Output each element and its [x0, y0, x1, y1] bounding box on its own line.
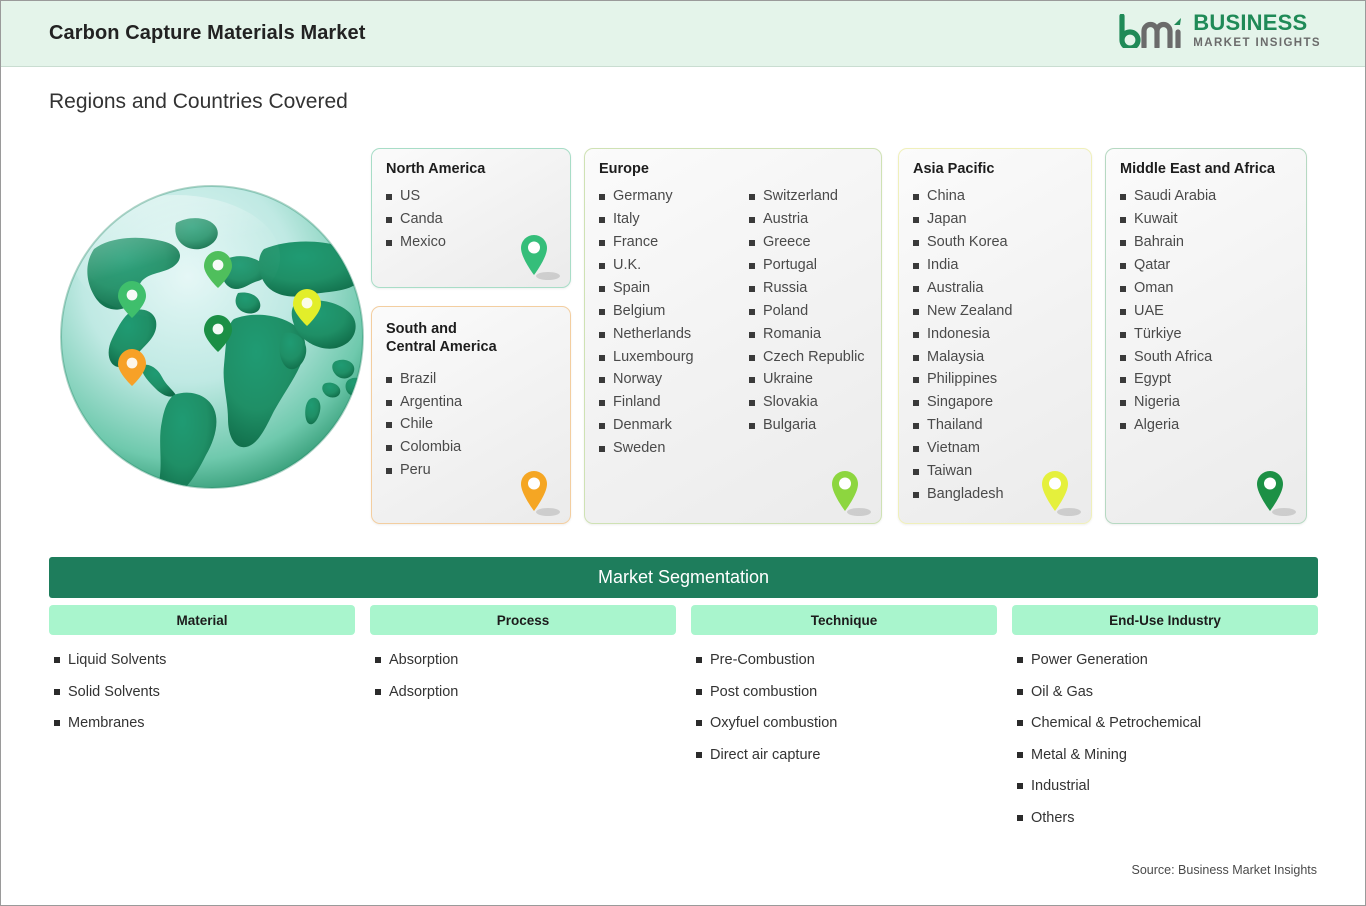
- country-item: Saudi Arabia: [1120, 185, 1292, 208]
- segment-list-end-use-industry: Power Generation Oil & Gas Chemical & Pe…: [1017, 653, 1317, 842]
- bullet-icon: [599, 355, 605, 361]
- country-label: Bulgaria: [763, 418, 816, 433]
- map-pin-middle-east-africa-icon: [1254, 467, 1296, 519]
- country-label: Russia: [763, 281, 807, 296]
- country-item: Brazil: [386, 368, 556, 391]
- bullet-icon: [913, 377, 919, 383]
- bullet-icon: [749, 332, 755, 338]
- country-item: Japan: [913, 208, 1077, 231]
- country-label: Finland: [613, 395, 661, 410]
- country-label: New Zealand: [927, 304, 1012, 319]
- infographic-page: Carbon Capture Materials Market BUSINESS…: [0, 0, 1366, 906]
- country-label: Kuwait: [1134, 212, 1178, 227]
- bullet-icon: [749, 263, 755, 269]
- bullet-icon: [913, 309, 919, 315]
- country-item: Colombia: [386, 436, 556, 459]
- bullet-icon: [54, 689, 60, 695]
- bullet-icon: [1120, 286, 1126, 292]
- bullet-icon: [1017, 815, 1023, 821]
- country-label: Vietnam: [927, 441, 980, 456]
- page-title: Carbon Capture Materials Market: [49, 22, 366, 45]
- region-title-north-america: North America: [386, 160, 556, 178]
- country-label: Portugal: [763, 258, 817, 273]
- bullet-icon: [375, 689, 381, 695]
- bullet-icon: [749, 377, 755, 383]
- country-item: Nigeria: [1120, 391, 1292, 414]
- segment-item-label: Membranes: [68, 716, 145, 731]
- country-label: South Africa: [1134, 350, 1212, 365]
- bullet-icon: [599, 217, 605, 223]
- map-pin-europe-icon: [829, 467, 871, 519]
- segment-item: Post combustion: [696, 685, 996, 717]
- segment-item: Liquid Solvents: [54, 653, 354, 685]
- segment-item: Others: [1017, 811, 1317, 843]
- bullet-icon: [386, 240, 392, 246]
- segment-item-label: Industrial: [1031, 779, 1090, 794]
- country-item: Sweden: [599, 437, 749, 460]
- country-item: New Zealand: [913, 300, 1077, 323]
- country-item: Spain: [599, 277, 749, 300]
- country-item: Bahrain: [1120, 231, 1292, 254]
- country-label: Chile: [400, 417, 433, 432]
- region-title-europe: Europe: [599, 160, 867, 178]
- country-label: Ukraine: [763, 372, 813, 387]
- bullet-icon: [696, 657, 702, 663]
- bullet-icon: [913, 332, 919, 338]
- country-label: Netherlands: [613, 327, 691, 342]
- country-item: Switzerland: [749, 185, 867, 208]
- country-label: Canda: [400, 212, 443, 227]
- country-label: Switzerland: [763, 189, 838, 204]
- segment-item: Oil & Gas: [1017, 685, 1317, 717]
- segment-header-label: Process: [497, 613, 550, 628]
- segment-item-label: Absorption: [389, 653, 458, 668]
- bullet-icon: [749, 309, 755, 315]
- bullet-icon: [599, 446, 605, 452]
- bullet-icon: [599, 377, 605, 383]
- country-label: Singapore: [927, 395, 993, 410]
- country-item: Singapore: [913, 391, 1077, 414]
- country-label: US: [400, 189, 420, 204]
- segment-item-label: Power Generation: [1031, 653, 1148, 668]
- country-label: Spain: [613, 281, 650, 296]
- map-pin-north-america-icon: [518, 231, 560, 283]
- region-title-south-central-america: South and Central America: [386, 320, 556, 357]
- country-item: Romania: [749, 323, 867, 346]
- country-label: Saudi Arabia: [1134, 189, 1216, 204]
- bullet-icon: [386, 194, 392, 200]
- country-item: Canda: [386, 208, 556, 231]
- country-label: France: [613, 235, 658, 250]
- bullet-icon: [386, 422, 392, 428]
- country-item: Portugal: [749, 254, 867, 277]
- bullet-icon: [54, 720, 60, 726]
- segment-header-end-use-industry: End-Use Industry: [1012, 605, 1318, 635]
- bullet-icon: [386, 400, 392, 406]
- country-item: US: [386, 185, 556, 208]
- bullet-icon: [913, 446, 919, 452]
- bullet-icon: [913, 492, 919, 498]
- country-item: Chile: [386, 413, 556, 436]
- country-item: Austria: [749, 208, 867, 231]
- bullet-icon: [913, 217, 919, 223]
- brand-tagline: MARKET INSIGHTS: [1193, 38, 1321, 50]
- bullet-icon: [913, 240, 919, 246]
- country-item: South Africa: [1120, 345, 1292, 368]
- bullet-icon: [599, 400, 605, 406]
- segment-header-technique: Technique: [691, 605, 997, 635]
- bullet-icon: [599, 423, 605, 429]
- country-label: Nigeria: [1134, 395, 1180, 410]
- map-pin-south-central-america-icon: [518, 467, 560, 519]
- country-label: Japan: [927, 212, 967, 227]
- country-item: Finland: [599, 391, 749, 414]
- country-item: Bulgaria: [749, 414, 867, 437]
- country-item: Netherlands: [599, 323, 749, 346]
- bullet-icon: [913, 423, 919, 429]
- segment-item: Oxyfuel combustion: [696, 716, 996, 748]
- segment-item-label: Others: [1031, 811, 1075, 826]
- country-list-middle-east-africa: Saudi Arabia Kuwait Bahrain Qatar Oman U…: [1120, 185, 1292, 437]
- bullet-icon: [386, 445, 392, 451]
- country-label: Poland: [763, 304, 808, 319]
- segment-item: Power Generation: [1017, 653, 1317, 685]
- bullet-icon: [1120, 423, 1126, 429]
- bullet-icon: [913, 400, 919, 406]
- bullet-icon: [696, 752, 702, 758]
- country-label: Indonesia: [927, 327, 990, 342]
- bullet-icon: [1017, 720, 1023, 726]
- country-label: Thailand: [927, 418, 983, 433]
- bullet-icon: [1120, 309, 1126, 315]
- bullet-icon: [599, 309, 605, 315]
- country-item: Italy: [599, 208, 749, 231]
- brand-wordmark: BUSINESS MARKET INSIGHTS: [1193, 12, 1321, 50]
- country-item: Kuwait: [1120, 208, 1292, 231]
- segment-item: Pre-Combustion: [696, 653, 996, 685]
- country-label: Türkiye: [1134, 327, 1182, 342]
- segment-item-label: Oxyfuel combustion: [710, 716, 837, 731]
- country-label: Brazil: [400, 372, 436, 387]
- country-label: Taiwan: [927, 464, 972, 479]
- country-item: Luxembourg: [599, 345, 749, 368]
- globe-illustration: [58, 183, 366, 491]
- country-item: Oman: [1120, 277, 1292, 300]
- bullet-icon: [1017, 689, 1023, 695]
- segment-item-label: Adsorption: [389, 685, 458, 700]
- bullet-icon: [696, 720, 702, 726]
- country-item: Qatar: [1120, 254, 1292, 277]
- country-item: Denmark: [599, 414, 749, 437]
- country-label: Australia: [927, 281, 983, 296]
- bullet-icon: [1120, 240, 1126, 246]
- bullet-icon: [1017, 783, 1023, 789]
- bullet-icon: [913, 355, 919, 361]
- segment-item: Membranes: [54, 716, 354, 748]
- segment-header-label: End-Use Industry: [1109, 613, 1221, 628]
- bullet-icon: [375, 657, 381, 663]
- segment-item-label: Direct air capture: [710, 748, 820, 763]
- bullet-icon: [749, 286, 755, 292]
- country-item: Slovakia: [749, 391, 867, 414]
- segment-item-label: Oil & Gas: [1031, 685, 1093, 700]
- country-label: Philippines: [927, 372, 997, 387]
- country-label: Oman: [1134, 281, 1174, 296]
- region-card-middle-east-africa[interactable]: Middle East and Africa Saudi Arabia Kuwa…: [1105, 148, 1307, 524]
- country-item: Malaysia: [913, 345, 1077, 368]
- country-item: U.K.: [599, 254, 749, 277]
- brand-name: BUSINESS: [1193, 12, 1321, 34]
- country-item: Algeria: [1120, 414, 1292, 437]
- country-label: Belgium: [613, 304, 665, 319]
- country-label: Greece: [763, 235, 811, 250]
- region-title-middle-east-africa: Middle East and Africa: [1120, 160, 1292, 178]
- country-label: Bahrain: [1134, 235, 1184, 250]
- country-item: Australia: [913, 277, 1077, 300]
- bullet-icon: [1017, 752, 1023, 758]
- bullet-icon: [1017, 657, 1023, 663]
- region-card-north-america[interactable]: North America US Canda Mexico: [371, 148, 571, 288]
- bullet-icon: [749, 400, 755, 406]
- market-segmentation-label: Market Segmentation: [598, 567, 769, 588]
- bullet-icon: [749, 355, 755, 361]
- bmi-logo-icon: [1118, 14, 1184, 48]
- region-card-europe[interactable]: Europe Germany Italy France U.K. Spain B…: [584, 148, 882, 524]
- country-label: China: [927, 189, 965, 204]
- segment-item: Absorption: [375, 653, 675, 685]
- country-label: U.K.: [613, 258, 641, 273]
- bullet-icon: [386, 377, 392, 383]
- country-item: Vietnam: [913, 437, 1077, 460]
- country-label: Argentina: [400, 395, 462, 410]
- country-label: Austria: [763, 212, 808, 227]
- bullet-icon: [913, 469, 919, 475]
- segment-item: Chemical & Petrochemical: [1017, 716, 1317, 748]
- bullet-icon: [696, 689, 702, 695]
- bullet-icon: [913, 194, 919, 200]
- bullet-icon: [599, 240, 605, 246]
- country-item: Egypt: [1120, 368, 1292, 391]
- segment-list-process: Absorption Adsorption: [375, 653, 675, 716]
- country-list-south-central-america: Brazil Argentina Chile Colombia Peru: [386, 368, 556, 482]
- country-list-asia-pacific: China Japan South Korea India Australia …: [913, 185, 1077, 505]
- bullet-icon: [386, 217, 392, 223]
- country-item: Philippines: [913, 368, 1077, 391]
- bullet-icon: [749, 423, 755, 429]
- bullet-icon: [1120, 217, 1126, 223]
- bullet-icon: [913, 286, 919, 292]
- section-heading: Regions and Countries Covered: [49, 90, 348, 114]
- country-label: Luxembourg: [613, 350, 694, 365]
- region-card-south-central-america[interactable]: South and Central America Brazil Argenti…: [371, 306, 571, 524]
- country-item: Türkiye: [1120, 323, 1292, 346]
- segment-header-process: Process: [370, 605, 676, 635]
- bullet-icon: [386, 468, 392, 474]
- country-item: Thailand: [913, 414, 1077, 437]
- country-item: China: [913, 185, 1077, 208]
- segment-header-material: Material: [49, 605, 355, 635]
- country-item: UAE: [1120, 300, 1292, 323]
- country-item: South Korea: [913, 231, 1077, 254]
- country-label: India: [927, 258, 958, 273]
- segment-header-label: Technique: [811, 613, 878, 628]
- bullet-icon: [54, 657, 60, 663]
- brand-logo: BUSINESS MARKET INSIGHTS: [1118, 12, 1321, 50]
- country-item: Poland: [749, 300, 867, 323]
- segment-list-technique: Pre-Combustion Post combustion Oxyfuel c…: [696, 653, 996, 779]
- country-label: Sweden: [613, 441, 665, 456]
- segment-item-label: Chemical & Petrochemical: [1031, 716, 1201, 731]
- globe-icon: [58, 183, 366, 491]
- country-label: Egypt: [1134, 372, 1171, 387]
- country-item: Argentina: [386, 390, 556, 413]
- country-label: UAE: [1134, 304, 1164, 319]
- country-item: India: [913, 254, 1077, 277]
- segment-item: Solid Solvents: [54, 685, 354, 717]
- bullet-icon: [1120, 332, 1126, 338]
- country-item: Germany: [599, 185, 749, 208]
- bullet-icon: [1120, 377, 1126, 383]
- segment-header-label: Material: [176, 613, 227, 628]
- segment-item: Metal & Mining: [1017, 748, 1317, 780]
- country-item: France: [599, 231, 749, 254]
- segment-item-label: Liquid Solvents: [68, 653, 166, 668]
- country-label: South Korea: [927, 235, 1008, 250]
- bullet-icon: [749, 240, 755, 246]
- market-segmentation-banner: Market Segmentation: [49, 557, 1318, 598]
- bullet-icon: [1120, 400, 1126, 406]
- page-header: Carbon Capture Materials Market BUSINESS…: [1, 1, 1365, 67]
- country-label: Qatar: [1134, 258, 1170, 273]
- country-label: Italy: [613, 212, 640, 227]
- country-item: Ukraine: [749, 368, 867, 391]
- bullet-icon: [1120, 263, 1126, 269]
- segment-item-label: Metal & Mining: [1031, 748, 1127, 763]
- country-label: Romania: [763, 327, 821, 342]
- country-list-europe-col2: Switzerland Austria Greece Portugal Russ…: [749, 185, 867, 460]
- country-item: Russia: [749, 277, 867, 300]
- country-list-europe-col1: Germany Italy France U.K. Spain Belgium …: [599, 185, 749, 460]
- country-label: Mexico: [400, 235, 446, 250]
- map-pin-asia-pacific-icon: [1039, 467, 1081, 519]
- segment-list-material: Liquid Solvents Solid Solvents Membranes: [54, 653, 354, 748]
- country-item: Czech Republic: [749, 345, 867, 368]
- country-label: Peru: [400, 463, 431, 478]
- region-card-asia-pacific[interactable]: Asia Pacific China Japan South Korea Ind…: [898, 148, 1092, 524]
- bullet-icon: [749, 217, 755, 223]
- country-item: Greece: [749, 231, 867, 254]
- country-item: Belgium: [599, 300, 749, 323]
- bullet-icon: [599, 286, 605, 292]
- source-attribution: Source: Business Market Insights: [1132, 863, 1318, 877]
- segment-item: Industrial: [1017, 779, 1317, 811]
- bullet-icon: [1120, 194, 1126, 200]
- segment-item-label: Pre-Combustion: [710, 653, 815, 668]
- segment-item-label: Post combustion: [710, 685, 817, 700]
- country-label: Algeria: [1134, 418, 1179, 433]
- country-label: Slovakia: [763, 395, 818, 410]
- country-label: Norway: [613, 372, 662, 387]
- bullet-icon: [599, 194, 605, 200]
- country-label: Colombia: [400, 440, 461, 455]
- country-label: Denmark: [613, 418, 672, 433]
- bullet-icon: [913, 263, 919, 269]
- bullet-icon: [599, 332, 605, 338]
- segment-item: Direct air capture: [696, 748, 996, 780]
- region-title-asia-pacific: Asia Pacific: [913, 160, 1077, 178]
- country-label: Germany: [613, 189, 673, 204]
- country-label: Czech Republic: [763, 350, 865, 365]
- country-item: Norway: [599, 368, 749, 391]
- country-label: Bangladesh: [927, 487, 1004, 502]
- bullet-icon: [1120, 355, 1126, 361]
- country-item: Indonesia: [913, 323, 1077, 346]
- segment-item-label: Solid Solvents: [68, 685, 160, 700]
- segment-item: Adsorption: [375, 685, 675, 717]
- bullet-icon: [749, 194, 755, 200]
- bullet-icon: [599, 263, 605, 269]
- country-label: Malaysia: [927, 350, 984, 365]
